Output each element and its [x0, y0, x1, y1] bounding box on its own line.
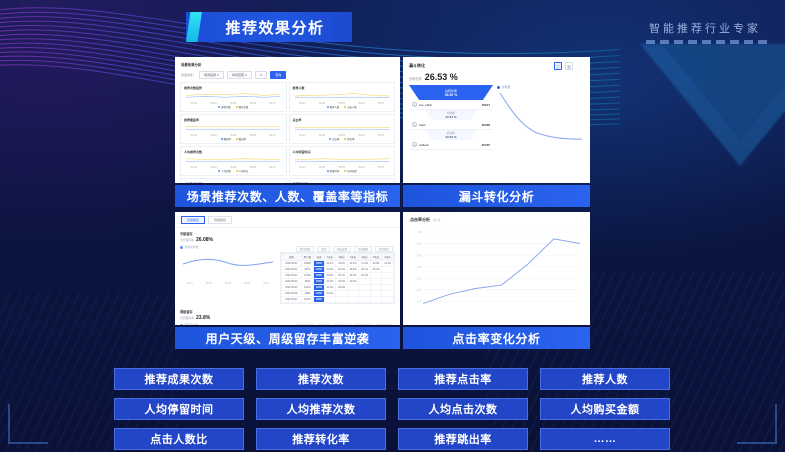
col-header: 5天后: [370, 254, 382, 261]
legend-item: 点击率: [329, 137, 339, 141]
toolbar-chip[interactable]: 指标设置: [333, 246, 351, 252]
svg-text:2.0: 2.0: [417, 288, 422, 292]
col-header: 4天后: [359, 254, 371, 261]
table-cell: [324, 297, 336, 303]
tag-item[interactable]: 人均推荐次数: [256, 398, 386, 420]
card-label-funnel: 漏斗转化分析: [403, 185, 590, 207]
funnel-step-row[interactable]: 1 rec_click 78107: [409, 100, 493, 110]
funnel-conversion-band: 转化率 32.29 %: [425, 130, 477, 140]
metric-tag-grid: 推荐成果次数 推荐次数 推荐点击率 推荐人数 人均停留时间 人均推荐次数 人均点…: [114, 368, 670, 450]
mini-chart-legend: 推荐人数 点击人数: [293, 105, 392, 109]
legend-label: 留存用户数: [185, 323, 198, 325]
corner-frame-right-decoration: [737, 404, 777, 444]
toolbar-chip[interactable]: 全部: [317, 246, 330, 252]
retention-toolbar[interactable]: 时间范围 全部 指标设置 导出数据 更多操作: [280, 323, 395, 325]
step-name: collect: [419, 143, 429, 147]
retention-cohort-table[interactable]: 日期 用户数 当天 1天后 2天后 3天后 4天后 5天后 6天后 2022-0…: [280, 252, 395, 304]
tab-day-retention[interactable]: 天级留存: [181, 216, 205, 224]
card-label-ctr: 点击率变化分析: [403, 327, 590, 349]
funnel-conversion-band: 转化率 32.24 %: [425, 110, 477, 120]
legend-label: 存留量: [502, 85, 510, 89]
triangle-glow-inner-decoration: [662, 44, 785, 140]
retention-rate-label: 次日留存率: [180, 238, 194, 242]
step-value: 20725: [482, 143, 490, 147]
trend-legend: 存留量: [497, 85, 584, 89]
legend-item: 推荐人数: [327, 105, 340, 109]
sparkline-plot: [180, 249, 276, 277]
bar-icon[interactable]: ▥: [565, 62, 573, 70]
legend-item: 触达率: [236, 137, 246, 141]
mini-chart-plot: [293, 122, 392, 134]
funnel-rate-value: 26.53 %: [425, 72, 458, 82]
table-cell: [370, 297, 382, 303]
toolbar-chip[interactable]: 导出数据: [354, 324, 372, 325]
retention-block-day: 天级留存 次日留存率 26.08% 留存用户数 05-03 05-04: [175, 228, 400, 306]
legend-item: 覆盖率: [221, 137, 231, 141]
card-ctr-chart[interactable]: 点击率分析 近7日 1.02.03.04.05.06.07.0: [403, 212, 590, 325]
tab-week-retention[interactable]: 周级留存: [208, 216, 232, 224]
tag-item[interactable]: 点击人数比: [114, 428, 244, 450]
table-header-row: 日期 用户数 当天 1天后 2天后 3天后 4天后 5天后 6天后: [282, 254, 394, 261]
retention-sparkline[interactable]: 留存用户数 05-03 05-04 05-05 05-06 05-07: [180, 245, 276, 304]
mini-chart-plot: [184, 90, 283, 102]
step-name: view: [419, 123, 426, 127]
more-icon[interactable]: ⋮: [576, 62, 584, 70]
col-header: 日期: [282, 254, 302, 261]
screenshot-card-grid: 场景效果分析 筛选条件： 场景名称 ∨ 时间范围 ∨ ∨ 查询 推荐次数趋势 0…: [175, 57, 590, 353]
scene-filter-apply-button[interactable]: 查询: [270, 71, 286, 79]
xtick: 05-03: [187, 282, 193, 285]
retention-title: 天级留存: [180, 231, 395, 236]
col-header: 6天后: [382, 254, 394, 261]
tag-item[interactable]: 人均购买金额: [540, 398, 670, 420]
retention-title: 周级留存: [180, 309, 395, 314]
table-cell: 2022-05-07: [282, 297, 302, 303]
funnel-step-row[interactable]: 2 view 28188: [409, 120, 493, 130]
col-header: 3天后: [347, 254, 359, 261]
ctr-title: 点击率分析: [410, 217, 430, 223]
retention-rate: 次周留存率 23.8%: [180, 315, 395, 321]
step-value: 78107: [482, 103, 490, 107]
toolbar-chip[interactable]: 时间范围: [296, 324, 314, 325]
card-scene-metrics[interactable]: 场景效果分析 筛选条件： 场景名称 ∨ 时间范围 ∨ ∨ 查询 推荐次数趋势 0…: [175, 57, 400, 183]
tag-item[interactable]: 人均点击次数: [398, 398, 528, 420]
mini-chart[interactable]: 推荐覆盖率 05-03 05-04 05-05 05-06 05-07 覆盖率 …: [180, 114, 287, 144]
table-cell: 100%: [314, 297, 325, 303]
retention-rate-value: 23.8%: [196, 315, 210, 321]
svg-text:4.0: 4.0: [417, 265, 422, 269]
mini-chart-title: 推荐跳出率: [293, 182, 392, 183]
svg-text:1.0: 1.0: [417, 299, 422, 303]
xtick: 05-04: [206, 282, 212, 285]
scene-mini-chart-grid: 推荐次数趋势 05-03 05-04 05-05 05-06 05-07 推荐次…: [175, 82, 400, 183]
scene-filter-chip-1[interactable]: 时间范围 ∨: [227, 71, 252, 79]
legend-item: 人均时长: [236, 169, 249, 173]
retention-rate-value: 26.08%: [196, 237, 213, 243]
step-name: rec_click: [419, 103, 432, 107]
xtick: 05-07: [263, 282, 269, 285]
table-cell: [336, 297, 348, 303]
toolbar-chip[interactable]: 全部: [317, 324, 330, 325]
card-retention[interactable]: 天级留存 周级留存 天级留存 次日留存率 26.08% 留存用户数: [175, 212, 400, 325]
step-index: 2: [412, 122, 417, 127]
tag-item[interactable]: 推荐转化率: [256, 428, 386, 450]
tag-item[interactable]: 推荐次数: [256, 368, 386, 390]
ctr-plot: 1.02.03.04.05.06.07.0: [407, 227, 584, 313]
mini-chart[interactable]: 推荐跳出率 05-03 05-04 05-05 05-06 05-07 跳出率 …: [289, 178, 396, 183]
mini-chart[interactable]: 推荐次数趋势 05-03 05-04 05-05 05-06 05-07 推荐次…: [180, 82, 287, 112]
legend-item: 推荐次数: [218, 105, 231, 109]
card-label-scene-metrics: 场景推荐次数、人数、覆盖率等指标: [175, 185, 400, 207]
trend-plot: [497, 90, 584, 144]
toolbar-chip[interactable]: 更多操作: [375, 324, 393, 325]
scene-title: 场景效果分析: [181, 62, 394, 67]
col-header: 用户数: [301, 254, 314, 261]
funnel-title: 漏斗转化: [409, 63, 425, 69]
mini-chart-legend: 人均次数 人均时长: [184, 169, 283, 173]
table-row[interactable]: 2022-05-0710172100%: [282, 297, 394, 303]
tag-item[interactable]: 推荐成果次数: [114, 368, 244, 390]
page-title-banner: 推荐效果分析: [186, 12, 352, 42]
corner-frame-left-decoration: [8, 404, 48, 444]
mini-chart-plot: [184, 122, 283, 134]
table-cell: [382, 297, 394, 303]
brand-slogan: 智能推荐行业专家: [649, 20, 761, 36]
tag-item[interactable]: 推荐人数: [540, 368, 670, 390]
svg-text:3.0: 3.0: [417, 276, 422, 280]
conversion-value: 32.29 %: [445, 135, 456, 139]
page-title: 推荐效果分析: [225, 17, 324, 38]
retention-tabs[interactable]: 天级留存 周级留存: [175, 212, 400, 228]
tag-item[interactable]: 推荐跳出率: [398, 428, 528, 450]
scene-filter-label: 筛选条件：: [181, 73, 196, 77]
mini-chart[interactable]: 人均停留时间 05-03 05-04 05-05 05-06 05-07 停留时…: [289, 146, 396, 176]
ctr-subtitle: 近7日: [433, 218, 441, 222]
legend-marker: [180, 324, 183, 326]
conversion-value: 32.24 %: [445, 115, 456, 119]
mini-chart-plot: [293, 90, 392, 102]
scene-head: 场景效果分析 筛选条件： 场景名称 ∨ 时间范围 ∨ ∨ 查询: [175, 57, 400, 82]
retention-sparkline[interactable]: 留存用户数 W18 W19 W20 W21 W22: [180, 323, 276, 325]
funnel-top-band: 总转化率 26.53 %: [409, 85, 493, 100]
legend-item: 曝光次数: [236, 105, 249, 109]
ctr-plot-area[interactable]: 1.02.03.04.05.06.07.0: [403, 225, 590, 322]
sparkline-legend: 留存用户数: [180, 323, 276, 325]
mini-chart-plot: [293, 154, 392, 166]
mini-chart-legend: 停留时间 访问深度: [293, 169, 392, 173]
col-header: 2天后: [336, 254, 348, 261]
tag-item[interactable]: 推荐点击率: [398, 368, 528, 390]
card-funnel[interactable]: 漏斗转化 ▽ ▥ ⋮ 总转化率 26.53 % 总转化率 26.53 % 1 r…: [403, 57, 590, 183]
tag-item[interactable]: ……: [540, 428, 670, 450]
toolbar-chip[interactable]: 指标设置: [333, 324, 351, 325]
tag-item[interactable]: 人均停留时间: [114, 398, 244, 420]
funnel-steps: 总转化率 26.53 % 1 rec_click 78107 转化率 32.24…: [409, 85, 493, 150]
funnel-head: 漏斗转化 ▽ ▥ ⋮: [403, 57, 590, 72]
retention-rate-label: 次周留存率: [180, 316, 194, 320]
card-label-retention: 用户天级、周级留存丰富逆袭: [175, 327, 400, 349]
page-header: 推荐效果分析 智能推荐行业专家: [0, 0, 785, 56]
legend-marker: [497, 86, 500, 89]
xtick: 05-06: [244, 282, 250, 285]
sparkline-xaxis: 05-03 05-04 05-05 05-06 05-07: [180, 282, 276, 285]
funnel-top-value: 26.53 %: [445, 93, 457, 97]
table-cell: [359, 297, 371, 303]
funnel-step-row[interactable]: 3 collect 20725: [409, 140, 493, 150]
mini-chart[interactable]: 人均推荐次数 05-03 05-04 05-05 05-06 05-07 人均次…: [180, 146, 287, 176]
mini-chart-legend: 覆盖率 触达率: [184, 137, 283, 141]
mini-chart-title: 人均购买金额: [184, 182, 283, 183]
table-cell: 10172: [301, 297, 314, 303]
svg-text:5.0: 5.0: [417, 253, 422, 257]
funnel-trend-chart[interactable]: 存留量: [497, 85, 584, 150]
mini-chart[interactable]: 人均购买金额 05-03 05-04 05-05 05-06 05-07 购买金…: [180, 178, 287, 183]
funnel-body: 总转化率 26.53 % 1 rec_click 78107 转化率 32.24…: [403, 82, 590, 154]
legend-item: 人均次数: [218, 169, 231, 173]
legend-item: 转化率: [344, 137, 354, 141]
legend-item: 点击人数: [344, 105, 357, 109]
step-value: 28188: [482, 123, 490, 127]
retention-toolbar[interactable]: 时间范围 全部 指标设置 导出数据 更多操作: [280, 245, 395, 252]
retention-block-week: 周级留存 次周留存率 23.8% 留存用户数 W18 W19: [175, 306, 400, 325]
svg-text:6.0: 6.0: [417, 242, 422, 246]
table-cell: [347, 297, 359, 303]
retention-row: 留存用户数 W18 W19 W20 W21 W22 时间范围: [180, 323, 395, 325]
xtick: 05-05: [225, 282, 231, 285]
legend-item: 访问深度: [344, 169, 357, 173]
funnel-toolbar[interactable]: ▽ ▥ ⋮: [554, 62, 584, 70]
mini-chart-legend: 推荐次数 曝光次数: [184, 105, 283, 109]
mini-chart[interactable]: 点击率 05-03 05-04 05-05 05-06 05-07 点击率 转化…: [289, 114, 396, 144]
step-index: 1: [412, 102, 417, 107]
scene-filter-chip-0[interactable]: 场景名称 ∨: [199, 71, 224, 79]
mini-chart-legend: 点击率 转化率: [293, 137, 392, 141]
toolbar-chip[interactable]: 时间范围: [296, 246, 314, 252]
svg-text:7.0: 7.0: [417, 230, 422, 234]
mini-chart-plot: [184, 154, 283, 166]
retention-rate: 次日留存率 26.08%: [180, 237, 395, 243]
step-index: 3: [412, 142, 417, 147]
ctr-head: 点击率分析 近7日: [403, 212, 590, 225]
scene-filter-bar[interactable]: 筛选条件： 场景名称 ∨ 时间范围 ∨ ∨ 查询: [181, 71, 394, 79]
funnel-rate-label: 总转化率: [409, 76, 422, 81]
mini-chart[interactable]: 推荐人数 05-03 05-04 05-05 05-06 05-07 推荐人数 …: [289, 82, 396, 112]
toolbar-chip[interactable]: 导出数据: [354, 246, 372, 252]
funnel-total-rate: 总转化率 26.53 %: [403, 72, 590, 82]
legend-item: 停留时间: [327, 169, 340, 173]
col-header: 当天: [314, 254, 325, 261]
scene-filter-chip-2[interactable]: ∨: [255, 71, 267, 79]
toolbar-chip[interactable]: 更多操作: [375, 246, 393, 252]
funnel-icon[interactable]: ▽: [554, 62, 562, 70]
retention-row: 留存用户数 05-03 05-04 05-05 05-06 05-07: [180, 245, 395, 304]
col-header: 1天后: [324, 254, 336, 261]
